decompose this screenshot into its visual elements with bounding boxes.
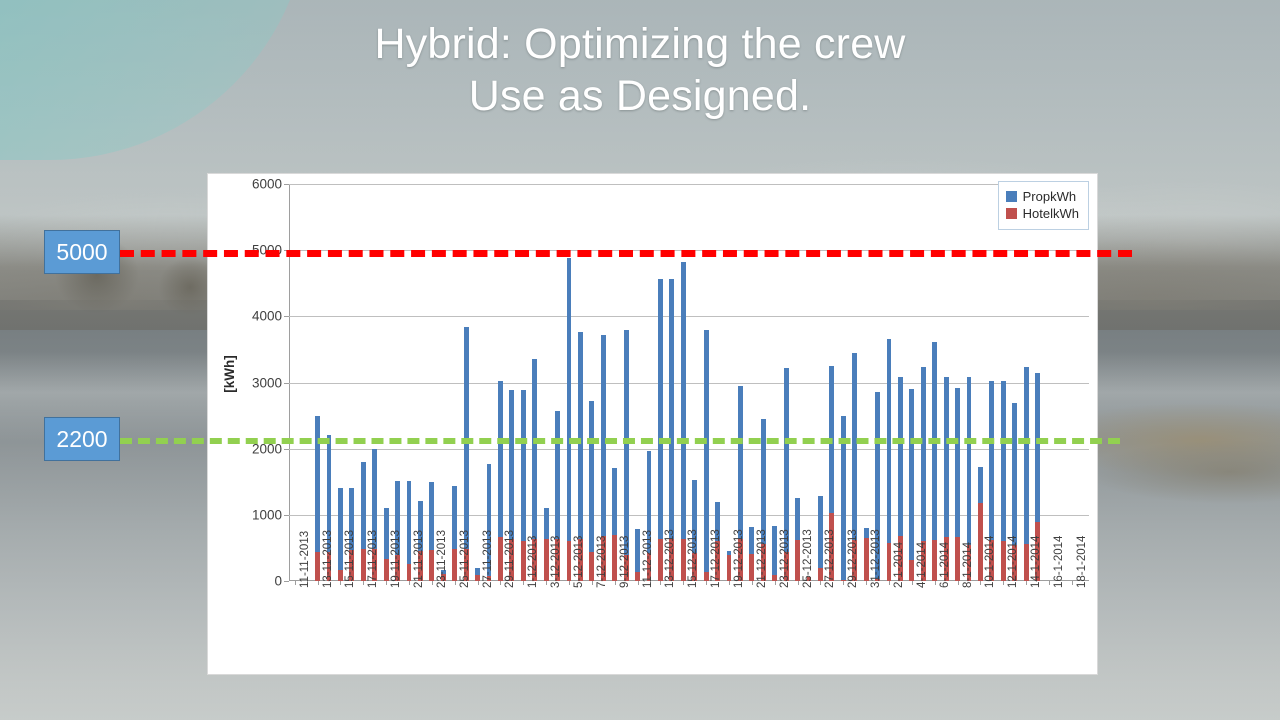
- x-axis-tick-label: 5-12-2013: [573, 536, 585, 588]
- stacked-bar: [612, 468, 617, 581]
- bar-segment-propkwh: [818, 496, 823, 567]
- bar-segment-hotelkwh: [818, 568, 823, 581]
- x-axis-tick-label: 27-12-2013: [824, 529, 836, 588]
- x-axis-tick-label: 8-1-2014: [962, 542, 974, 588]
- x-axis-tick-mark: [820, 581, 821, 585]
- bar-segment-propkwh: [498, 381, 503, 537]
- x-axis-tick-mark: [729, 581, 730, 585]
- x-axis-tick-mark: [478, 581, 479, 585]
- bar-segment-hotelkwh: [429, 550, 434, 581]
- x-axis-tick-mark: [615, 581, 616, 585]
- stacked-bar: [704, 330, 709, 581]
- y-axis-tick-label: 3000: [252, 375, 282, 390]
- x-axis-tick-mark: [843, 581, 844, 585]
- x-axis-tick-label: 1-12-2013: [527, 536, 539, 588]
- callout-box-2200: 2200: [44, 417, 120, 461]
- bar-segment-propkwh: [1012, 403, 1017, 545]
- stacked-bar: [658, 279, 663, 581]
- bar-segment-propkwh: [784, 368, 789, 552]
- stacked-bar: [635, 529, 640, 581]
- legend-swatch-icon: [1006, 208, 1017, 219]
- x-axis-tick-label: 16-1-2014: [1053, 536, 1065, 588]
- x-axis-tick-mark: [775, 581, 776, 585]
- x-axis-tick-label: 13-11-2013: [322, 530, 334, 588]
- x-axis-tick-label: 19-12-2013: [733, 529, 745, 588]
- bar-segment-hotelkwh: [589, 552, 594, 581]
- threshold-line-2200: [120, 438, 1120, 444]
- legend-swatch-icon: [1006, 191, 1017, 202]
- bar-segment-propkwh: [429, 482, 434, 549]
- bar-segment-propkwh: [944, 377, 949, 538]
- x-axis-tick-mark: [866, 581, 867, 585]
- bar-segment-propkwh: [521, 390, 526, 542]
- x-axis-tick-mark: [295, 581, 296, 585]
- bar-segment-propkwh: [315, 416, 320, 552]
- x-axis-tick-label: 25-12-2013: [802, 529, 814, 588]
- bar-segment-propkwh: [1024, 367, 1029, 544]
- y-axis-tick-mark: [284, 581, 289, 582]
- bar-segment-hotelkwh: [384, 559, 389, 581]
- bar-segment-hotelkwh: [932, 540, 937, 581]
- stacked-bar: [544, 508, 549, 581]
- x-axis-tick-label: 14-1-2014: [1030, 536, 1042, 588]
- bar-segment-hotelkwh: [978, 503, 983, 581]
- bar-segment-propkwh: [955, 388, 960, 536]
- bar-segment-propkwh: [509, 390, 514, 539]
- stacked-bar: [909, 389, 914, 581]
- y-axis-title: [kWh]: [222, 355, 237, 393]
- x-axis-tick-mark: [889, 581, 890, 585]
- x-axis-tick-label: 15-11-2013: [344, 530, 356, 588]
- slide-title-line-1: Hybrid: Optimizing the crew: [190, 18, 1090, 70]
- bar-segment-hotelkwh: [704, 572, 709, 581]
- x-axis-tick-mark: [432, 581, 433, 585]
- bar-segment-hotelkwh: [1001, 541, 1006, 581]
- y-axis-tick-label: 6000: [252, 177, 282, 192]
- bar-segment-hotelkwh: [681, 539, 686, 581]
- bar-segment-hotelkwh: [567, 541, 572, 581]
- bar-segment-hotelkwh: [749, 554, 754, 581]
- bar-segment-propkwh: [589, 401, 594, 552]
- stacked-bar: [978, 467, 983, 581]
- x-axis-tick-mark: [340, 581, 341, 585]
- bar-segment-propkwh: [852, 353, 857, 540]
- bar-segment-hotelkwh: [338, 570, 343, 581]
- x-axis-tick-label: 18-1-2014: [1076, 536, 1088, 588]
- bar-segment-propkwh: [898, 377, 903, 536]
- x-axis-tick-label: 11-11-2013: [299, 531, 311, 588]
- x-axis-tick-label: 9-12-2013: [619, 536, 631, 588]
- x-axis-tick-label: 29-12-2013: [847, 529, 859, 588]
- x-axis-tick-mark: [752, 581, 753, 585]
- legend-label: HotelkWh: [1023, 206, 1079, 221]
- bar-segment-propkwh: [738, 386, 743, 539]
- stacked-bar: [1024, 367, 1029, 581]
- x-axis-tick-mark: [1003, 581, 1004, 585]
- x-axis-tick-mark: [592, 581, 593, 585]
- bar-segment-hotelkwh: [864, 538, 869, 581]
- x-axis-tick-mark: [546, 581, 547, 585]
- bar-segment-propkwh: [772, 526, 777, 575]
- stacked-bar: [818, 496, 823, 581]
- x-axis-tick-mark: [409, 581, 410, 585]
- stacked-bar: [384, 508, 389, 581]
- bar-segment-propkwh: [532, 359, 537, 539]
- bar-segment-propkwh: [864, 528, 869, 538]
- threshold-line-5000: [120, 250, 1132, 257]
- bar-segment-propkwh: [555, 411, 560, 539]
- bar-segment-propkwh: [384, 508, 389, 560]
- x-axis-tick-label: 27-11-2013: [482, 530, 494, 588]
- stacked-bar: [772, 526, 777, 581]
- x-axis-tick-mark: [500, 581, 501, 585]
- x-axis-tick-mark: [1072, 581, 1073, 585]
- x-axis-tick-label: 29-11-2013: [504, 530, 516, 588]
- bar-segment-propkwh: [921, 367, 926, 541]
- x-axis-tick-label: 31-12-2013: [870, 529, 882, 588]
- legend-item-propkwh: PropkWh: [1006, 189, 1079, 204]
- stacked-bar: [407, 481, 412, 581]
- x-axis-tick-label: 21-12-2013: [756, 529, 768, 588]
- bar-segment-hotelkwh: [521, 541, 526, 581]
- legend-item-hotelkwh: HotelkWh: [1006, 206, 1079, 221]
- stacked-bar: [887, 339, 892, 581]
- bar-segment-propkwh: [967, 377, 972, 545]
- bar-segment-propkwh: [452, 486, 457, 550]
- x-axis-tick-label: 13-12-2013: [664, 529, 676, 588]
- stacked-bar: [727, 551, 732, 581]
- stacked-bar: [338, 488, 343, 581]
- x-axis-tick-label: 17-12-2013: [710, 529, 722, 588]
- stacked-bar: [498, 381, 503, 581]
- bar-segment-hotelkwh: [315, 552, 320, 581]
- bar-segment-propkwh: [658, 279, 663, 540]
- bar-segment-propkwh: [544, 508, 549, 539]
- bar-segment-propkwh: [978, 467, 983, 503]
- bar-segment-hotelkwh: [955, 537, 960, 581]
- bar-segment-propkwh: [475, 568, 480, 575]
- stacked-bar: [749, 527, 754, 581]
- bar-segment-hotelkwh: [795, 540, 800, 581]
- stacked-bar: [521, 390, 526, 581]
- bar-segment-hotelkwh: [658, 539, 663, 581]
- slide-title-line-2: Use as Designed.: [190, 70, 1090, 122]
- x-axis-tick-label: 3-12-2013: [550, 536, 562, 588]
- x-axis-tick-mark: [798, 581, 799, 585]
- legend-label: PropkWh: [1023, 189, 1076, 204]
- x-axis-tick-mark: [569, 581, 570, 585]
- x-axis-tick-mark: [386, 581, 387, 585]
- bar-segment-hotelkwh: [498, 537, 503, 581]
- stacked-bar: [795, 498, 800, 581]
- bar-segment-hotelkwh: [909, 560, 914, 581]
- x-axis-tick-label: 12-1-2014: [1007, 536, 1019, 588]
- bar-segment-propkwh: [601, 335, 606, 536]
- bar-segment-hotelkwh: [361, 549, 366, 581]
- x-axis-tick-mark: [318, 581, 319, 585]
- bar-segment-hotelkwh: [407, 564, 412, 581]
- bar-segment-propkwh: [749, 527, 754, 554]
- x-axis-tick-label: 10-1-2014: [984, 536, 996, 588]
- x-axis-tick-mark: [1049, 581, 1050, 585]
- y-axis-tick-label: 4000: [252, 309, 282, 324]
- bar-segment-propkwh: [989, 381, 994, 540]
- x-axis-tick-label: 23-11-2013: [436, 530, 448, 588]
- bar-segment-propkwh: [704, 330, 709, 573]
- x-axis-tick-label: 7-12-2013: [596, 536, 608, 588]
- slide-title: Hybrid: Optimizing the crew Use as Desig…: [190, 18, 1090, 123]
- bar-segment-propkwh: [681, 262, 686, 539]
- bar-segment-propkwh: [407, 481, 412, 564]
- stacked-bar: [681, 262, 686, 581]
- stacked-bar: [589, 401, 594, 581]
- x-axis-tick-mark: [363, 581, 364, 585]
- stacked-bar: [932, 342, 937, 581]
- stacked-bar: [864, 528, 869, 581]
- x-axis-tick-mark: [1026, 581, 1027, 585]
- bar-segment-propkwh: [1035, 373, 1040, 522]
- x-axis-tick-label: 21-11-2013: [413, 530, 425, 588]
- x-axis-tick-label: 6-1-2014: [939, 542, 951, 588]
- bar-segment-hotelkwh: [544, 539, 549, 581]
- bar-segment-propkwh: [612, 468, 617, 535]
- bar-segment-hotelkwh: [452, 549, 457, 581]
- bar-segment-hotelkwh: [635, 572, 640, 581]
- bar-segment-propkwh: [795, 498, 800, 540]
- x-axis-tick-label: 23-12-2013: [779, 529, 791, 588]
- x-axis-tick-mark: [683, 581, 684, 585]
- stacked-bar: [452, 486, 457, 581]
- bar-segment-propkwh: [361, 462, 366, 549]
- plot-area: 0100020003000400050006000 11-11-201313-1…: [289, 184, 1089, 581]
- bar-segment-propkwh: [669, 279, 674, 539]
- x-axis-tick-mark: [523, 581, 524, 585]
- stacked-bar: [1001, 381, 1006, 581]
- y-axis-tick-label: 1000: [252, 507, 282, 522]
- x-axis-tick-label: 2-1-2014: [893, 542, 905, 588]
- x-axis-tick-mark: [660, 581, 661, 585]
- x-axis-tick-mark: [935, 581, 936, 585]
- bar-segment-propkwh: [909, 389, 914, 560]
- callout-box-5000: 5000: [44, 230, 120, 274]
- x-axis-tick-label: 19-11-2013: [390, 530, 402, 588]
- bar-segment-propkwh: [338, 488, 343, 570]
- bar-segment-hotelkwh: [1024, 544, 1029, 581]
- stacked-bar: [361, 462, 366, 581]
- x-axis-tick-mark: [912, 581, 913, 585]
- bar-segment-propkwh: [1001, 381, 1006, 541]
- stacked-bar: [429, 482, 434, 581]
- bar-segment-hotelkwh: [887, 543, 892, 581]
- x-axis-tick-mark: [980, 581, 981, 585]
- x-axis-tick-label: 15-12-2013: [687, 529, 699, 588]
- bar-segment-propkwh: [567, 258, 572, 541]
- chart-panel: [kWh] 0100020003000400050006000 11-11-20…: [207, 173, 1098, 675]
- x-axis-tick-label: 25-11-2013: [459, 530, 471, 588]
- bar-segment-propkwh: [635, 529, 640, 573]
- bar-segment-hotelkwh: [612, 535, 617, 581]
- bar-segment-propkwh: [727, 551, 732, 555]
- y-axis-tick-label: 0: [274, 574, 282, 589]
- bar-segment-propkwh: [578, 332, 583, 539]
- stacked-bar: [475, 568, 480, 581]
- stacked-bar: [955, 388, 960, 581]
- x-axis-tick-mark: [455, 581, 456, 585]
- x-axis-tick-mark: [638, 581, 639, 585]
- bar-series-group: [289, 184, 1089, 581]
- bar-segment-hotelkwh: [727, 555, 732, 581]
- x-axis-tick-label: 4-1-2014: [916, 542, 928, 588]
- chart-legend: PropkWhHotelkWh: [998, 181, 1089, 230]
- stacked-bar: [567, 258, 572, 581]
- x-axis-tick-label: 17-11-2013: [367, 530, 379, 588]
- x-axis-tick-label: 11-12-2013: [642, 530, 654, 588]
- x-axis-tick-mark: [958, 581, 959, 585]
- x-axis-tick-mark: [706, 581, 707, 585]
